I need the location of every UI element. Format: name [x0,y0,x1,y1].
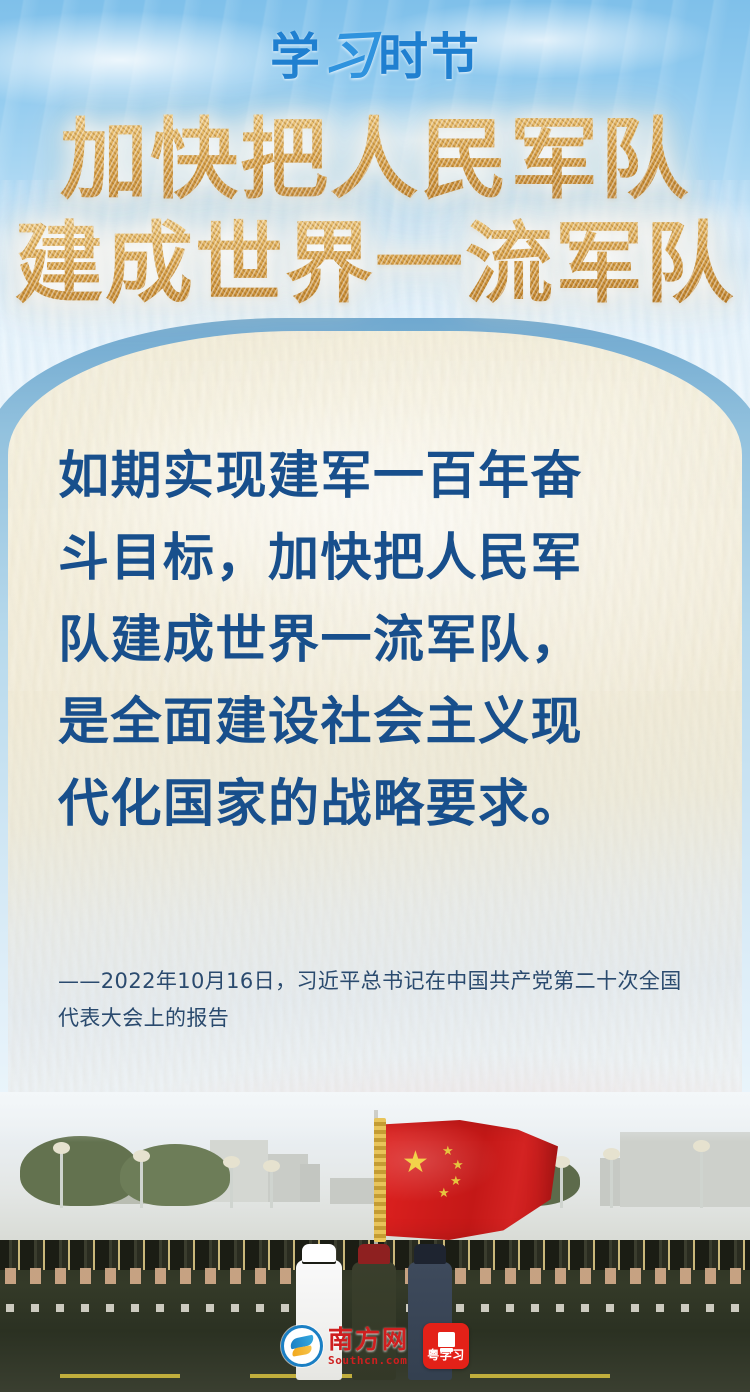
page-title: 加快把人民军队 建成世界一流军队 [0,108,750,316]
street-lamp [140,1160,143,1208]
quote-line: 如期实现建军一百年奋 [58,436,678,518]
southcn-swirl-icon [281,1325,323,1367]
quote-attribution: ——2022年10月16日，习近平总书记在中国共产党第二十次全国代表大会上的报告 [58,963,688,1037]
logo-char-shi: 时 [378,31,429,83]
street-lamp [270,1170,273,1208]
quote-text: 如期实现建军一百年奋 斗目标，加快把人民军 队建成世界一流军队， 是全面建设社会… [58,436,678,846]
southcn-text: 南方网 Southcn.com [328,1327,409,1366]
street-lamp [610,1158,613,1208]
building [300,1164,320,1202]
quote-card-wrapper: 如期实现建军一百年奋 斗目标，加快把人民军 队建成世界一流军队， 是全面建设社会… [0,318,750,1148]
flag-small-star-icon: ★ [438,1186,450,1199]
yuexuexi-book-icon [438,1332,455,1347]
logo-char-jie: 节 [429,31,480,83]
road-marking [60,1374,180,1378]
logo-char-xi: 习 [319,30,379,85]
quote-line: 是全面建设社会主义现 [58,682,678,764]
quote-line: 代化国家的战略要求。 [58,764,678,846]
title-line-2: 建成世界一流军队 [0,212,750,316]
southcn-cn-label: 南方网 [328,1327,409,1352]
street-lamp [60,1152,63,1208]
southcn-logo[interactable]: 南方网 Southcn.com [281,1325,409,1367]
street-lamp [230,1166,233,1208]
southcn-en-label: Southcn.com [328,1355,409,1366]
navy-white-hat [302,1244,336,1262]
program-logo: 学 习 时 节 [0,26,750,88]
title-line-1: 加快把人民军队 [0,108,750,212]
quote-line: 斗目标，加快把人民军 [58,518,678,600]
road-marking [470,1374,610,1378]
air-force-blue-hat [414,1244,446,1264]
street-lamp [560,1166,563,1208]
quote-line: 队建成世界一流军队， [58,600,678,682]
yuexuexi-logo[interactable]: 粤学习 [423,1323,469,1369]
flag-bearer-hat [358,1244,390,1264]
street-lamp [700,1150,703,1208]
building [620,1132,750,1207]
poster-root: 学 习 时 节 加快把人民军队 建成世界一流军队 如期实现建军一百年奋 斗目标，… [0,0,750,1392]
flag-fringe [374,1118,386,1242]
flag-small-star-icon: ★ [452,1158,464,1171]
logo-char-xue: 学 [270,31,321,83]
flag-small-star-icon: ★ [442,1144,454,1157]
flag-small-star-icon: ★ [450,1174,462,1187]
footer-logos: 南方网 Southcn.com 粤学习 [0,1322,750,1370]
